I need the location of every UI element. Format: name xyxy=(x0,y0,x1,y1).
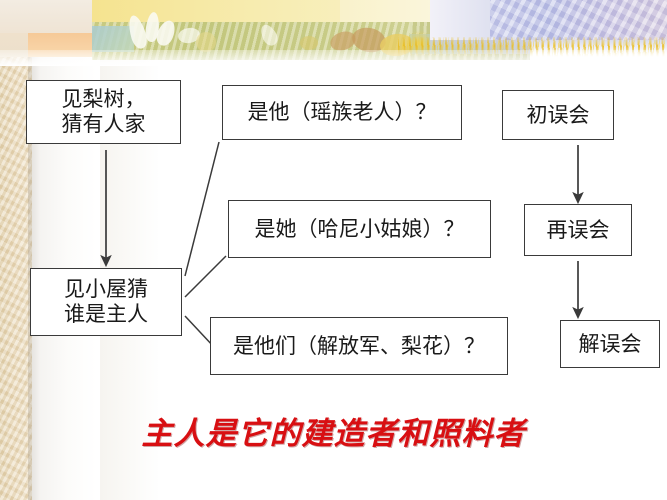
flowchart-box-resolved-misunderstanding[interactable]: 解误会 xyxy=(560,320,660,368)
line-hut-to-hani xyxy=(185,256,226,297)
flowchart-box-second-misunderstanding[interactable]: 再误会 xyxy=(524,204,632,256)
flowchart-box-hani-girl[interactable]: 是她（哈尼小姑娘）？ xyxy=(228,200,491,258)
flowchart-box-soldiers-lihua[interactable]: 是他们（解放军、梨花）？ xyxy=(210,317,508,375)
flowchart-box-hut[interactable]: 见小屋猜 谁是主人 xyxy=(30,268,182,336)
flowchart-box-pear[interactable]: 见梨树， 猜有人家 xyxy=(26,80,181,144)
caption-text: 主人是它的建造者和照料者 xyxy=(0,408,667,453)
flowchart-box-first-misunderstanding[interactable]: 初误会 xyxy=(502,90,614,140)
slide-canvas: 见梨树， 猜有人家 是他（瑶族老人）？ 初误会 是她（哈尼小姑娘）？ 再误会 见… xyxy=(0,0,667,500)
line-hut-to-yao xyxy=(185,142,219,276)
flowchart-box-yao-elder[interactable]: 是他（瑶族老人）？ xyxy=(222,85,462,140)
